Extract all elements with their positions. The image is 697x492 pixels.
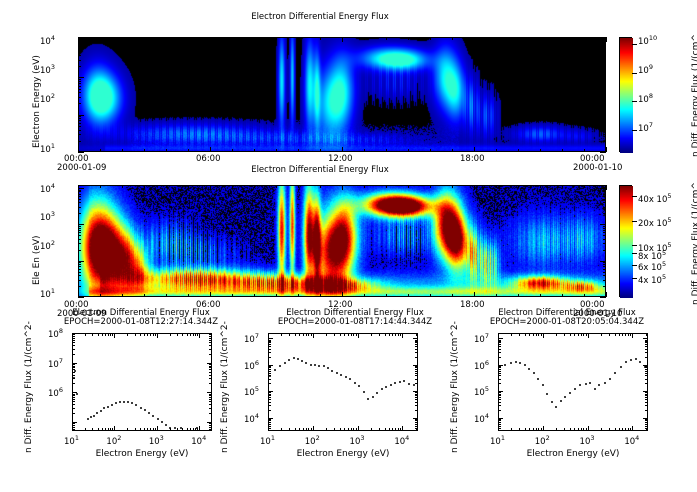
axis-tick (313, 426, 314, 431)
axis-tick (415, 375, 418, 376)
axis-tick (356, 333, 357, 336)
axis-tick (232, 149, 233, 152)
axis-tick (72, 422, 77, 423)
axis-tick (415, 383, 418, 384)
axis-tick (311, 333, 312, 336)
axis-tick (600, 297, 606, 298)
axis-tick (268, 395, 271, 396)
axis-tick (210, 147, 211, 152)
axis-tick (140, 428, 141, 431)
axis-tick (254, 37, 255, 40)
axis-tick (78, 202, 81, 203)
axis-tick (645, 419, 648, 420)
axis-tick (496, 37, 497, 40)
axis-tick (603, 272, 606, 273)
axis-tick (268, 344, 271, 345)
axis-tick (209, 334, 212, 335)
axis-tick (268, 340, 271, 341)
axis-tick (209, 408, 212, 409)
axis-tick (268, 367, 271, 368)
axis-tick (395, 428, 396, 431)
axis-tick (498, 346, 501, 347)
axis-tick (170, 333, 171, 336)
axis-tick (583, 333, 584, 336)
axis-tick (625, 333, 626, 336)
axis-tick (511, 428, 512, 431)
spectrum-3-frame[interactable] (498, 333, 648, 431)
axis-tick (603, 191, 606, 192)
data-point (390, 384, 392, 386)
axis-tick (147, 428, 148, 431)
axis-tick (578, 428, 579, 431)
spectrum-2-xtick: 103 (350, 434, 365, 447)
data-point (323, 365, 325, 367)
axis-tick (110, 428, 111, 431)
axis-tick (564, 428, 565, 431)
axis-tick (392, 333, 393, 336)
axis-tick (498, 366, 501, 367)
axis-tick (153, 428, 154, 431)
axis-tick (155, 428, 156, 431)
axis-tick (78, 126, 81, 127)
axis-tick (498, 373, 501, 374)
axis-tick (603, 83, 606, 84)
axis-tick (645, 420, 648, 421)
axis-tick (348, 333, 349, 336)
axis-tick (603, 280, 606, 281)
axis-tick (140, 333, 141, 336)
axis-tick (498, 341, 501, 342)
axis-tick (498, 426, 501, 427)
axis-tick (603, 141, 606, 142)
axis-tick (400, 333, 401, 336)
axis-tick (78, 250, 81, 251)
axis-tick (112, 428, 113, 431)
axis-tick (609, 428, 610, 431)
axis-tick (268, 366, 271, 367)
axis-tick (386, 149, 387, 152)
axis-tick (452, 37, 453, 40)
axis-tick (415, 397, 418, 398)
data-point (524, 364, 526, 366)
axis-tick (645, 405, 648, 406)
axis-tick (415, 405, 418, 406)
axis-tick (356, 428, 357, 431)
axis-tick (533, 428, 534, 431)
axis-tick (351, 333, 352, 336)
axis-tick (525, 333, 526, 336)
colorbar-tick (632, 101, 637, 102)
spectrum-1-xtick: 104 (191, 434, 206, 447)
spectrum-3-xtick: 104 (624, 434, 639, 447)
axis-tick (78, 266, 81, 267)
axis-tick (209, 399, 212, 400)
axis-tick (538, 428, 539, 431)
axis-tick (78, 55, 81, 56)
axis-tick (603, 89, 606, 90)
axis-tick (603, 79, 606, 80)
data-point (87, 418, 89, 420)
axis-tick (210, 185, 211, 190)
axis-tick (392, 428, 393, 431)
axis-tick (72, 394, 75, 395)
axis-tick (496, 294, 497, 297)
data-point (148, 412, 150, 414)
spectrum-2-ylabel: n Diff. Energy Flux (1/(cm^2- (220, 321, 230, 453)
axis-tick (276, 185, 277, 188)
axis-tick (209, 423, 212, 424)
axis-tick (622, 428, 623, 431)
axis-tick (562, 37, 563, 40)
data-point (399, 381, 401, 383)
axis-tick (415, 371, 418, 372)
axis-tick (72, 425, 75, 426)
axis-tick (92, 428, 93, 431)
axis-tick (389, 333, 390, 336)
axis-tick (645, 373, 648, 374)
axis-tick (112, 333, 113, 336)
axis-tick (415, 373, 418, 374)
axis-tick (600, 77, 606, 78)
axis-tick (72, 367, 75, 368)
axis-tick (188, 185, 189, 188)
axis-tick (415, 392, 418, 393)
axis-tick (122, 149, 123, 152)
axis-tick (268, 346, 271, 347)
axis-tick (402, 426, 403, 431)
axis-tick (157, 426, 158, 431)
axis-tick (254, 294, 255, 297)
axis-tick (78, 264, 81, 265)
axis-tick (600, 188, 606, 189)
axis-tick (498, 338, 503, 339)
axis-tick (268, 379, 271, 380)
axis-tick (144, 333, 145, 336)
axis-tick (102, 333, 103, 336)
axis-tick (600, 115, 606, 116)
data-point (620, 366, 622, 368)
axis-tick (232, 37, 233, 40)
axis-tick (581, 333, 582, 336)
axis-tick (72, 397, 75, 398)
spectrum-3-epoch: EPOCH=2000-01-08T20:05:04.344Z (452, 317, 682, 327)
axis-tick (100, 185, 101, 188)
axis-tick (415, 342, 418, 343)
axis-tick (209, 429, 212, 430)
axis-tick (209, 395, 212, 396)
axis-tick (430, 37, 431, 40)
spectrum-2-ytick: 105 (244, 385, 259, 398)
axis-tick (603, 213, 606, 214)
axis-tick (601, 428, 602, 431)
axis-tick (570, 428, 571, 431)
axis-tick (78, 51, 81, 52)
axis-tick (413, 365, 418, 366)
spectrum-1-ytick: 108 (48, 327, 63, 340)
axis-tick (78, 97, 81, 98)
axis-tick (498, 367, 501, 368)
axis-tick (78, 44, 81, 45)
axis-tick (430, 185, 431, 188)
axis-tick (268, 405, 271, 406)
axis-tick (584, 294, 585, 297)
axis-tick (603, 123, 606, 124)
axis-tick (209, 383, 212, 384)
axis-tick (603, 46, 606, 47)
colorbar-tick (632, 221, 637, 222)
axis-tick (78, 297, 84, 298)
axis-tick (78, 40, 84, 41)
axis-tick (609, 333, 610, 336)
axis-tick (603, 226, 606, 227)
axis-tick (207, 392, 212, 393)
axis-tick (645, 352, 648, 353)
axis-tick (408, 185, 409, 188)
data-point (293, 357, 295, 359)
axis-tick (498, 349, 501, 350)
axis-tick (78, 134, 81, 135)
axis-tick (415, 402, 418, 403)
axis-tick (603, 118, 606, 119)
axis-tick (498, 395, 501, 396)
axis-tick (100, 294, 101, 297)
panel1-colorbar[interactable] (619, 37, 632, 152)
data-point (609, 378, 611, 380)
axis-tick (78, 79, 81, 80)
axis-tick (645, 346, 648, 347)
axis-tick (518, 149, 519, 152)
axis-tick (371, 333, 372, 336)
data-point (381, 388, 383, 390)
axis-tick (645, 383, 648, 384)
axis-tick (538, 333, 539, 336)
axis-tick (306, 333, 307, 336)
axis-tick (311, 428, 312, 431)
data-point (107, 406, 109, 408)
axis-tick (415, 352, 418, 353)
axis-tick (72, 336, 75, 337)
axis-tick (199, 426, 200, 431)
axis-tick (536, 333, 537, 336)
axis-tick (511, 333, 512, 336)
axis-tick (518, 294, 519, 297)
spectrum-2-ytick: 107 (244, 332, 259, 345)
data-point (345, 376, 347, 378)
axis-tick (498, 428, 501, 429)
axis-tick (78, 261, 84, 262)
axis-tick (276, 149, 277, 152)
axis-tick (268, 333, 269, 338)
axis-tick (581, 428, 582, 431)
axis-tick (342, 37, 343, 42)
axis-tick (102, 428, 103, 431)
axis-tick (556, 333, 557, 336)
axis-tick (295, 428, 296, 431)
axis-tick (135, 428, 136, 431)
axis-tick (207, 333, 212, 334)
panel2-colorbar[interactable] (619, 185, 632, 297)
data-point (336, 372, 338, 374)
panel1-ylabel-group: Electron Energy (eV) (22, 40, 36, 150)
axis-tick (85, 333, 86, 336)
axis-tick (78, 228, 81, 229)
axis-tick (268, 420, 271, 421)
axis-tick (210, 292, 211, 297)
axis-tick (603, 275, 606, 276)
axis-tick (342, 185, 343, 190)
axis-tick (108, 428, 109, 431)
axis-tick (78, 89, 81, 90)
axis-tick (166, 149, 167, 152)
axis-tick (498, 342, 501, 343)
axis-tick (268, 352, 271, 353)
axis-tick (574, 333, 575, 336)
axis-tick (188, 294, 189, 297)
axis-tick (78, 130, 81, 131)
axis-tick (415, 369, 418, 370)
axis-tick (498, 333, 499, 338)
axis-tick (398, 428, 399, 431)
axis-tick (358, 333, 359, 338)
axis-tick (268, 341, 271, 342)
axis-tick (645, 340, 648, 341)
data-point (594, 388, 596, 390)
axis-tick (209, 425, 212, 426)
axis-tick (402, 333, 403, 338)
axis-tick (408, 37, 409, 40)
axis-tick (155, 333, 156, 336)
data-point (354, 382, 356, 384)
axis-tick (78, 224, 84, 225)
axis-tick (395, 333, 396, 336)
axis-tick (364, 149, 365, 152)
axis-tick (600, 261, 606, 262)
axis-tick (536, 428, 537, 431)
axis-tick (452, 185, 453, 188)
colorbar-tick (632, 265, 637, 266)
axis-tick (498, 422, 501, 423)
axis-tick (645, 379, 648, 380)
axis-tick (600, 224, 606, 225)
axis-tick (78, 103, 81, 104)
axis-tick (415, 410, 418, 411)
axis-tick (601, 333, 602, 336)
axis-tick (108, 333, 109, 336)
axis-tick (72, 372, 75, 373)
axis-tick (340, 333, 341, 336)
axis-tick (72, 363, 77, 364)
axis-tick (78, 37, 84, 38)
panel2-colorbar-label: n Diff. Energy Flux (1/(cm^ (691, 182, 697, 305)
axis-tick (190, 333, 191, 336)
panel1-title: Electron Differential Energy Flux (0, 12, 640, 22)
axis-tick (540, 185, 541, 188)
axis-tick (543, 333, 544, 338)
axis-tick (518, 185, 519, 188)
axis-tick (583, 428, 584, 431)
axis-tick (268, 342, 271, 343)
axis-tick (276, 294, 277, 297)
axis-tick (98, 428, 99, 431)
axis-tick (72, 364, 75, 365)
axis-tick (92, 333, 93, 336)
axis-tick (541, 428, 542, 431)
axis-tick (498, 399, 501, 400)
axis-tick (603, 202, 606, 203)
axis-tick (645, 349, 648, 350)
axis-tick (415, 379, 418, 380)
axis-tick (574, 428, 575, 431)
axis-tick (348, 428, 349, 431)
axis-tick (415, 341, 418, 342)
axis-tick (232, 185, 233, 188)
axis-tick (603, 230, 606, 231)
axis-tick (498, 375, 501, 376)
spectrum-1-ylabel: n Diff. Energy Flux (1/(cm^2- (24, 321, 34, 453)
axis-tick (603, 81, 606, 82)
axis-tick (353, 333, 354, 336)
axis-tick (187, 428, 188, 431)
axis-tick (385, 428, 386, 431)
axis-tick (645, 397, 648, 398)
axis-tick (78, 115, 84, 116)
axis-tick (209, 394, 212, 395)
axis-tick (289, 333, 290, 336)
axis-tick (150, 428, 151, 431)
axis-tick (452, 149, 453, 152)
axis-tick (144, 37, 145, 40)
axis-tick (645, 424, 648, 425)
axis-tick (306, 428, 307, 431)
axis-tick (603, 51, 606, 52)
axis-tick (232, 294, 233, 297)
axis-tick (268, 391, 273, 392)
axis-tick (78, 86, 81, 87)
axis-tick (498, 391, 503, 392)
axis-tick (72, 349, 75, 350)
axis-tick (645, 375, 648, 376)
axis-tick (398, 333, 399, 336)
axis-tick (415, 349, 418, 350)
axis-tick (78, 120, 81, 121)
axis-tick (209, 372, 212, 373)
axis-tick (100, 37, 101, 40)
axis-tick (188, 149, 189, 152)
axis-tick (364, 294, 365, 297)
axis-tick (498, 379, 501, 380)
axis-tick (603, 60, 606, 61)
axis-tick (645, 341, 648, 342)
data-point (123, 401, 125, 403)
axis-tick (268, 402, 271, 403)
axis-tick (105, 333, 106, 336)
axis-tick (298, 294, 299, 297)
data-point (297, 358, 299, 360)
axis-tick (606, 292, 607, 297)
axis-tick (195, 428, 196, 431)
colorbar-tick (632, 253, 637, 254)
axis-tick (603, 120, 606, 121)
axis-tick (268, 397, 271, 398)
axis-tick (209, 336, 212, 337)
axis-tick (298, 37, 299, 40)
axis-tick (603, 116, 606, 117)
axis-tick (415, 420, 418, 421)
axis-tick (144, 185, 145, 188)
data-point (274, 369, 276, 371)
axis-tick (603, 286, 606, 287)
spectrum-3-ytick: 105 (474, 385, 489, 398)
